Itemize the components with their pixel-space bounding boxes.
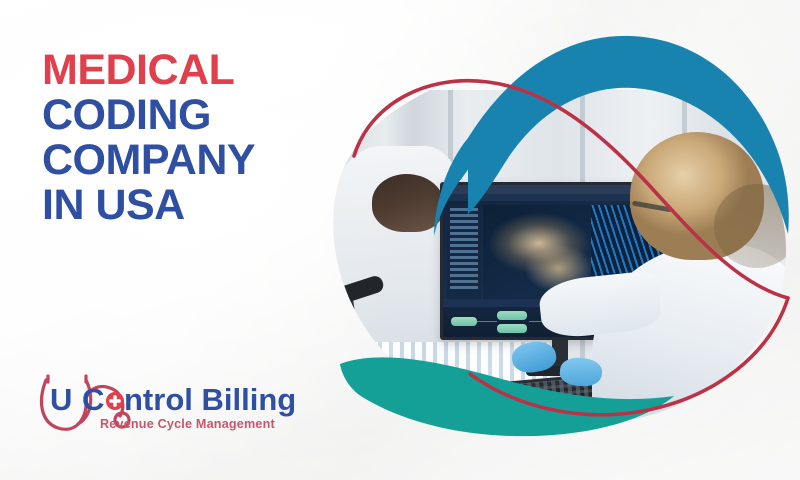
logo[interactable]: U C ntrol Billing Revenue Cycle Manageme… [34, 366, 306, 438]
logo-letter-u: U [50, 382, 72, 417]
logo-tagline: Revenue Cycle Management [100, 417, 275, 431]
headline-line-3: COMPANY [42, 138, 342, 183]
logo-wordmark: ntrol Billing [124, 382, 296, 417]
logo-svg: U C ntrol Billing Revenue Cycle Manageme… [34, 366, 306, 438]
headline-block: MEDICAL CODING COMPANY IN USA [42, 48, 342, 228]
banner: MEDICAL CODING COMPANY IN USA [0, 0, 800, 480]
headline-line-1: MEDICAL [42, 48, 342, 93]
logo-letter-c: C [82, 382, 104, 417]
medical-cross-icon [106, 392, 124, 410]
blue-wave-shape [468, 36, 789, 234]
artwork-composition [318, 18, 800, 480]
headline-line-2: CODING [42, 93, 342, 138]
headline-line-4: IN USA [42, 183, 342, 228]
decorative-shapes [318, 18, 800, 480]
